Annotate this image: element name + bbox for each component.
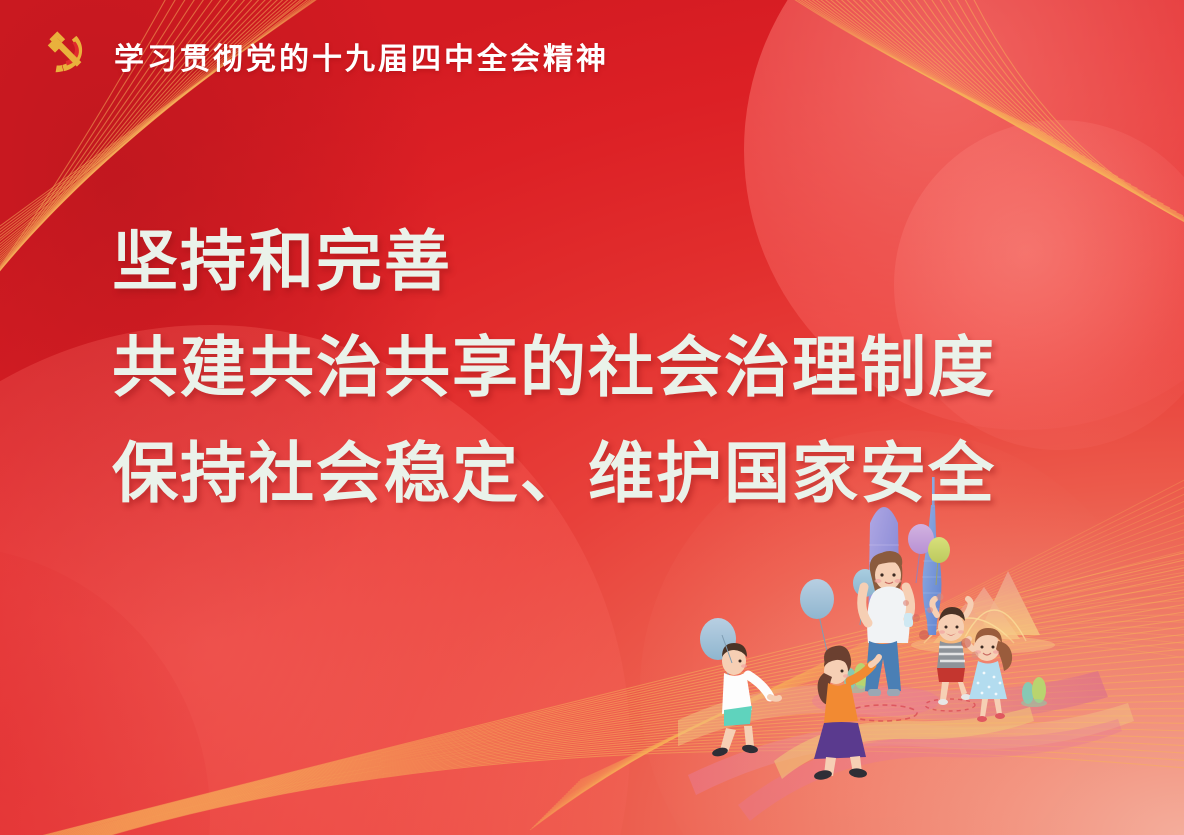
poster-canvas: 学习贯彻党的十九届四中全会精神 坚持和完善 共建共治共享的社会治理制度 保持社会… [0,0,1184,835]
party-hammer-sickle-icon [36,28,92,84]
header-title: 学习贯彻党的十九届四中全会精神 [114,34,609,78]
family-playing-in-city-park-illustration [678,475,1178,835]
slogan-block: 坚持和完善 共建共治共享的社会治理制度 保持社会稳定、维护国家安全 [112,210,996,528]
header: 学习贯彻党的十九届四中全会精神 [36,28,609,84]
slogan-line-1: 坚持和完善 [112,210,996,316]
slogan-line-2: 共建共治共享的社会治理制度 [112,316,996,422]
slogan-line-3: 保持社会稳定、维护国家安全 [112,422,996,528]
